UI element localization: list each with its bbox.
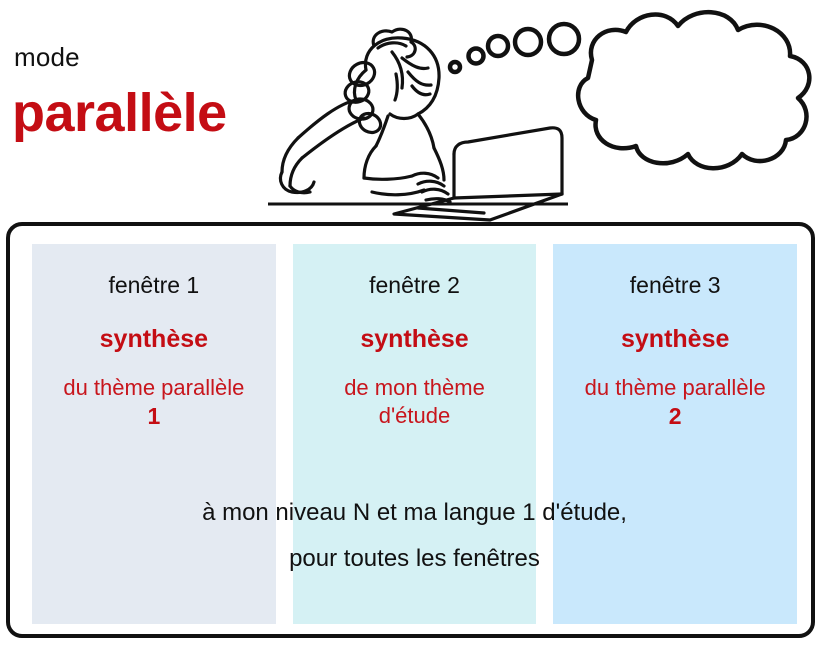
panel-fenetre-2[interactable]: fenêtre 2 synthèse de mon thème d'étude (293, 244, 537, 624)
thought-dot-1 (450, 62, 460, 72)
panel-1-theme-line: du thème parallèle (38, 374, 270, 402)
panel-1-window-label: fenêtre 1 (38, 274, 270, 297)
panel-1-theme-number: 1 (38, 402, 270, 430)
panel-3-theme-line: du thème parallèle (559, 374, 791, 402)
panel-1-content: fenêtre 1 synthèse du thème parallèle 1 (32, 274, 276, 430)
panel-2-synthese-label: synthèse (299, 327, 531, 352)
panel-2-content: fenêtre 2 synthèse de mon thème d'étude (293, 274, 537, 430)
thought-bubble: j'apprends mieux par comparaison (440, 2, 829, 182)
panel-fenetre-1[interactable]: fenêtre 1 synthèse du thème parallèle 1 (32, 244, 276, 624)
panel-2-window-label: fenêtre 2 (299, 274, 531, 297)
windows-frame: fenêtre 1 synthèse du thème parallèle 1 … (6, 222, 815, 638)
panel-3-theme-number: 2 (559, 402, 791, 430)
thought-dot-3 (488, 36, 508, 56)
page-title: parallèle (12, 86, 227, 140)
thought-dot-4 (515, 29, 541, 55)
panel-3-content: fenêtre 3 synthèse du thème parallèle 2 (553, 274, 797, 430)
panel-1-synthese-label: synthèse (38, 327, 270, 352)
thought-dot-5 (549, 24, 579, 54)
thought-dot-2 (469, 49, 484, 64)
panel-fenetre-3[interactable]: fenêtre 3 synthèse du thème parallèle 2 (553, 244, 797, 624)
panel-3-window-label: fenêtre 3 (559, 274, 791, 297)
panels-row: fenêtre 1 synthèse du thème parallèle 1 … (32, 244, 797, 624)
panel-2-theme-number: d'étude (299, 402, 531, 430)
panel-2-theme-line: de mon thème (299, 374, 531, 402)
panel-3-synthese-label: synthèse (559, 327, 791, 352)
mode-label: mode (14, 44, 80, 70)
